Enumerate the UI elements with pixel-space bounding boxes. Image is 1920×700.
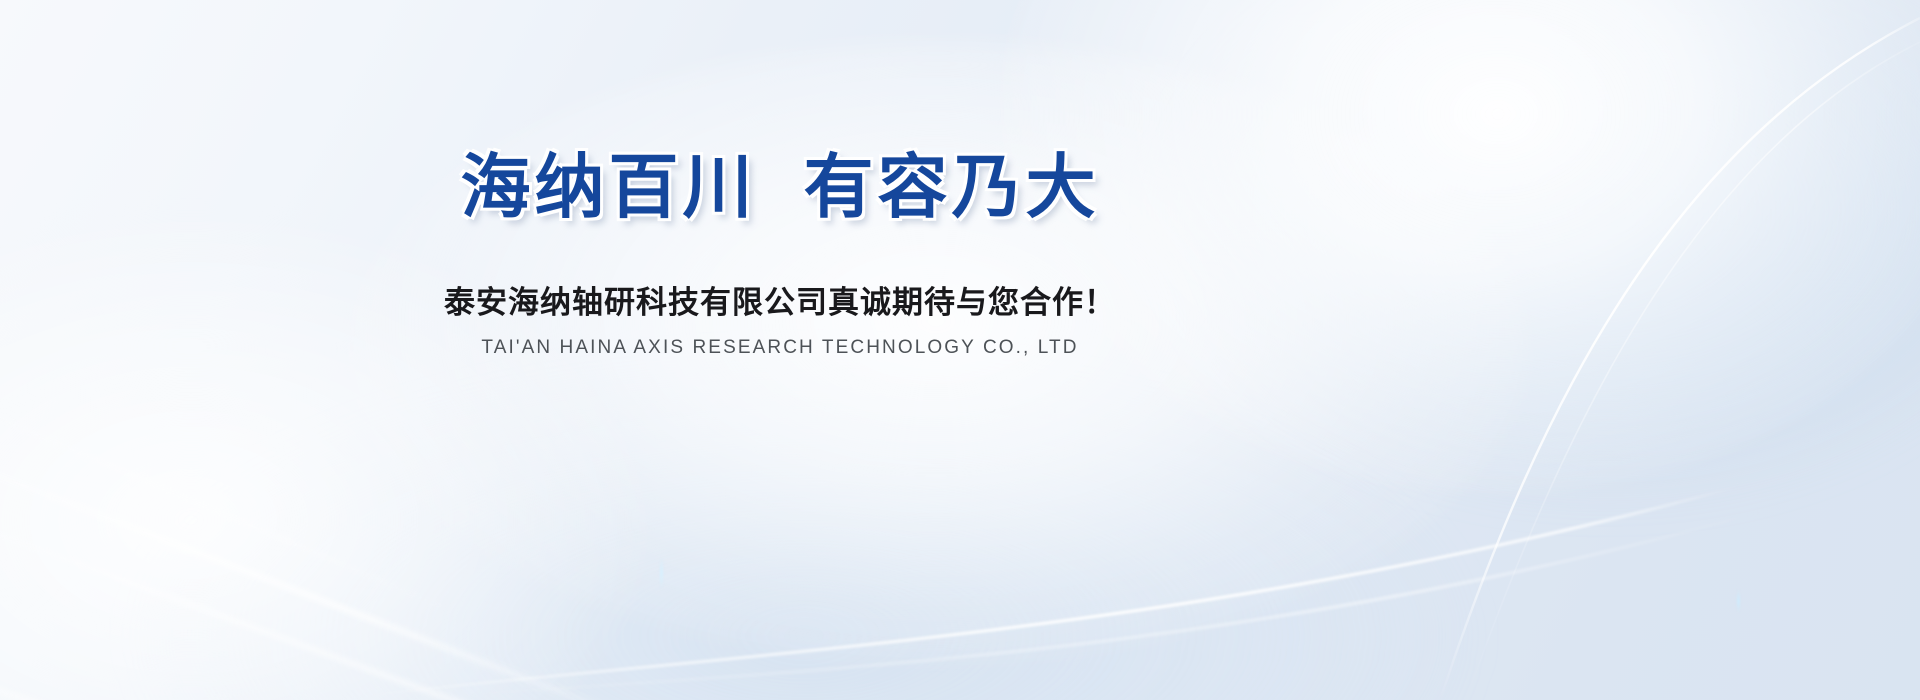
- banner-subtitle-chinese: 泰安海纳轴研科技有限公司真诚期待与您合作！: [444, 284, 1116, 323]
- banner-headline: 海纳百川 有容乃大: [461, 152, 1100, 222]
- banner-subtitle-english: TAI'AN HAINA AXIS RESEARCH TECHNOLOGY CO…: [481, 337, 1078, 360]
- banner-content: 海纳百川 有容乃大 泰安海纳轴研科技有限公司真诚期待与您合作！ TAI'AN H…: [0, 0, 1560, 700]
- light-spark: [1737, 588, 1740, 614]
- hero-banner: 海纳百川 有容乃大 泰安海纳轴研科技有限公司真诚期待与您合作！ TAI'AN H…: [0, 0, 1920, 700]
